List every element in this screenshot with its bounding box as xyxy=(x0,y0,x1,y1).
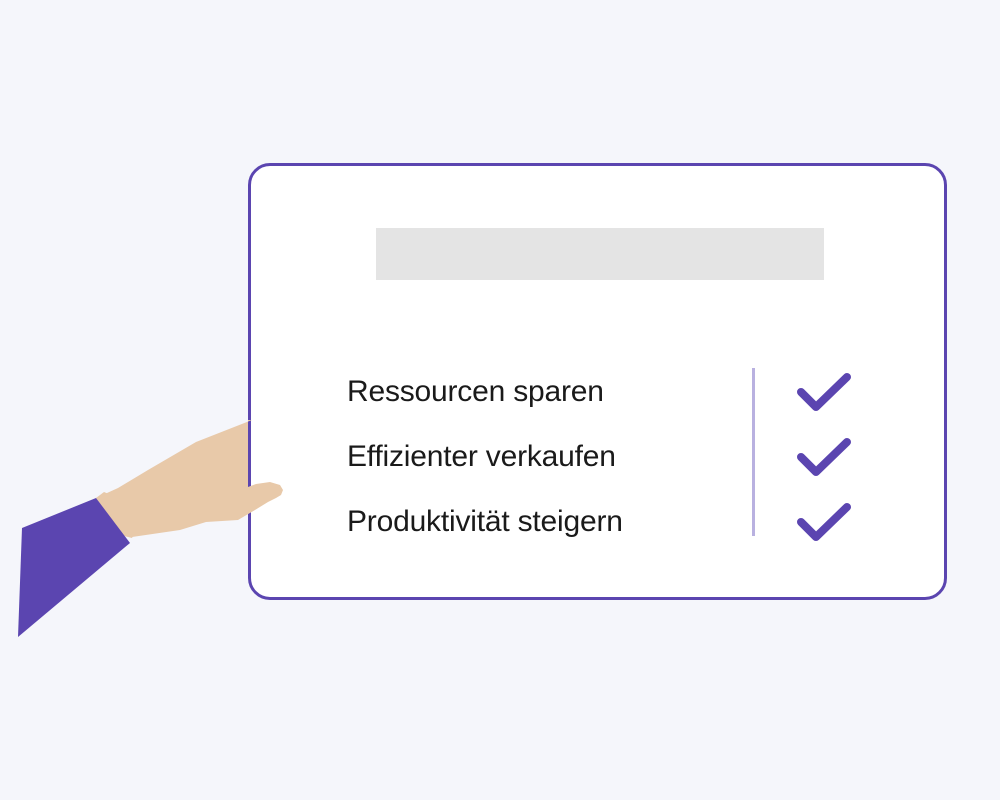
feature-card: Ressourcen sparen Effizienter verkaufen … xyxy=(248,163,947,600)
check-icon xyxy=(796,371,852,413)
illustration-canvas: Ressourcen sparen Effizienter verkaufen … xyxy=(0,0,1000,800)
list-item[interactable]: Produktivität steigern xyxy=(251,491,950,553)
checklist-item-label: Effizienter verkaufen xyxy=(347,440,616,474)
check-icon xyxy=(796,436,852,478)
checklist-item-label: Produktivität steigern xyxy=(347,505,623,539)
benefits-checklist: Ressourcen sparen Effizienter verkaufen … xyxy=(251,361,950,546)
check-icon xyxy=(796,501,852,543)
list-item[interactable]: Effizienter verkaufen xyxy=(251,426,950,488)
list-item[interactable]: Ressourcen sparen xyxy=(251,361,950,423)
wrist-shape xyxy=(96,492,136,538)
sleeve-shape xyxy=(18,498,130,637)
checklist-item-label: Ressourcen sparen xyxy=(347,375,604,409)
placeholder-title-bar xyxy=(376,228,824,280)
